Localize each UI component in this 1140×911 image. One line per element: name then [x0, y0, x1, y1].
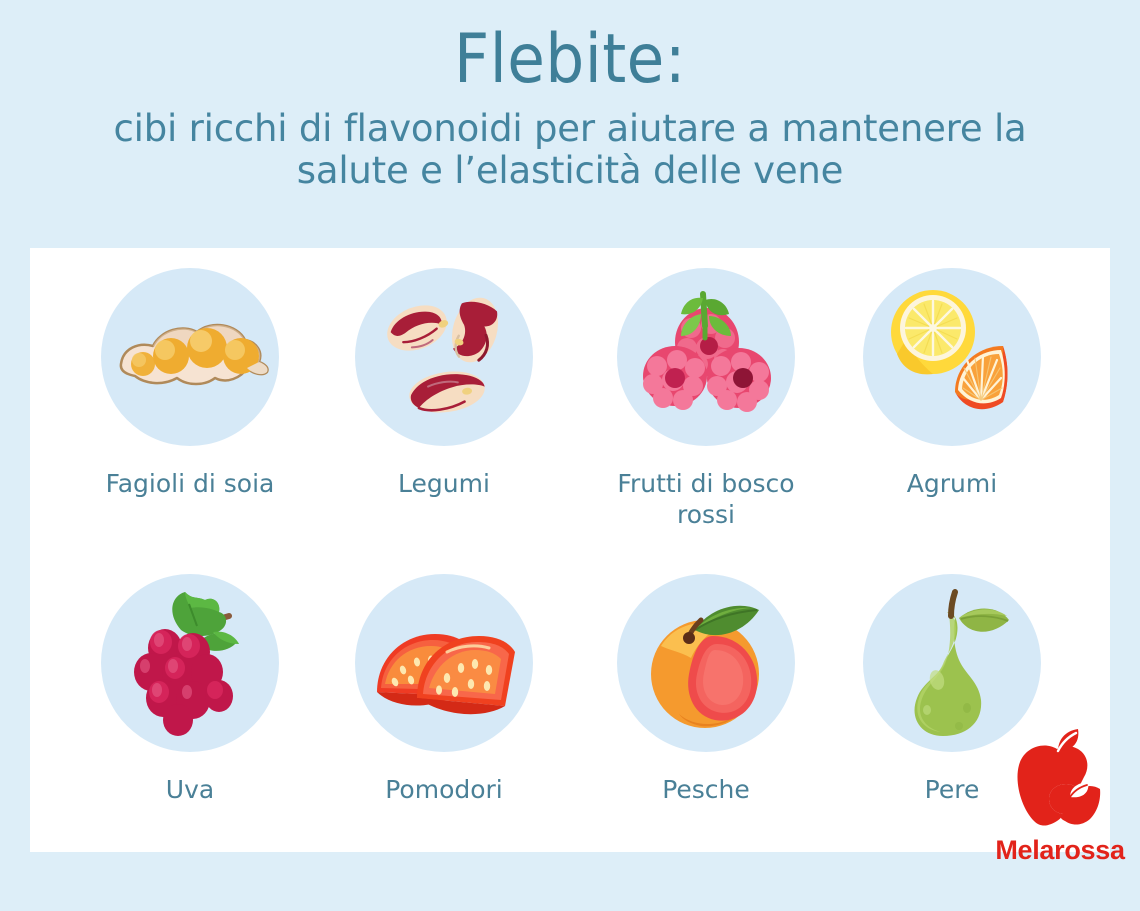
food-item-frutti-di-bosco-rossi[interactable]: Frutti di bosco rossi [591, 260, 821, 530]
food-icon-circle [101, 574, 279, 752]
subtitle-line-2: salute e l’elasticità delle vene [0, 150, 1140, 192]
citrus-lemon-orange-icon [863, 268, 1041, 446]
page-title: Flebite: [0, 0, 1140, 98]
subtitle-line-1: cibi ricchi di flavonoidi per aiutare a … [0, 108, 1140, 150]
food-icon-circle [355, 268, 533, 446]
food-icon-circle [863, 268, 1041, 446]
borlotti-beans-icon [355, 268, 533, 446]
food-row-1: Fagioli di soia [30, 260, 1110, 560]
raspberries-icon [617, 268, 795, 446]
grapes-icon [101, 574, 279, 752]
food-icon-circle [617, 574, 795, 752]
food-label: Pomodori [329, 774, 559, 805]
food-icon-circle [355, 574, 533, 752]
pear-icon [863, 574, 1041, 752]
food-item-legumi[interactable]: Legumi [329, 260, 559, 499]
food-label-line-1: Frutti di bosco [617, 469, 794, 498]
food-icon-circle [863, 574, 1041, 752]
bitten-red-apple-icon [1008, 727, 1112, 831]
food-label-line-2: rossi [677, 500, 735, 529]
content-card: Fagioli di soia [30, 248, 1110, 852]
soybean-pod-icon [101, 268, 279, 446]
food-label: Legumi [329, 468, 559, 499]
food-icon-circle [617, 268, 795, 446]
food-label: Fagioli di soia [75, 468, 305, 499]
food-label: Agrumi [837, 468, 1067, 499]
food-label: Pesche [591, 774, 821, 805]
food-label: Uva [75, 774, 305, 805]
food-label: Frutti di bosco rossi [591, 468, 821, 530]
melarossa-logo[interactable]: Melarossa [986, 727, 1134, 887]
logo-wordmark: Melarossa [986, 835, 1134, 866]
food-item-fagioli-di-soia[interactable]: Fagioli di soia [75, 260, 305, 499]
food-item-agrumi[interactable]: Agrumi [837, 260, 1067, 499]
food-icon-circle [101, 268, 279, 446]
food-row-2: Uva [30, 566, 1110, 866]
peach-icon [617, 574, 795, 752]
food-item-pesche[interactable]: Pesche [591, 566, 821, 805]
food-item-uva[interactable]: Uva [75, 566, 305, 805]
page-subtitle: cibi ricchi di flavonoidi per aiutare a … [0, 108, 1140, 192]
food-item-pomodori[interactable]: Pomodori [329, 566, 559, 805]
header: Flebite: cibi ricchi di flavonoidi per a… [0, 0, 1140, 248]
tomato-wedges-icon [355, 574, 533, 752]
